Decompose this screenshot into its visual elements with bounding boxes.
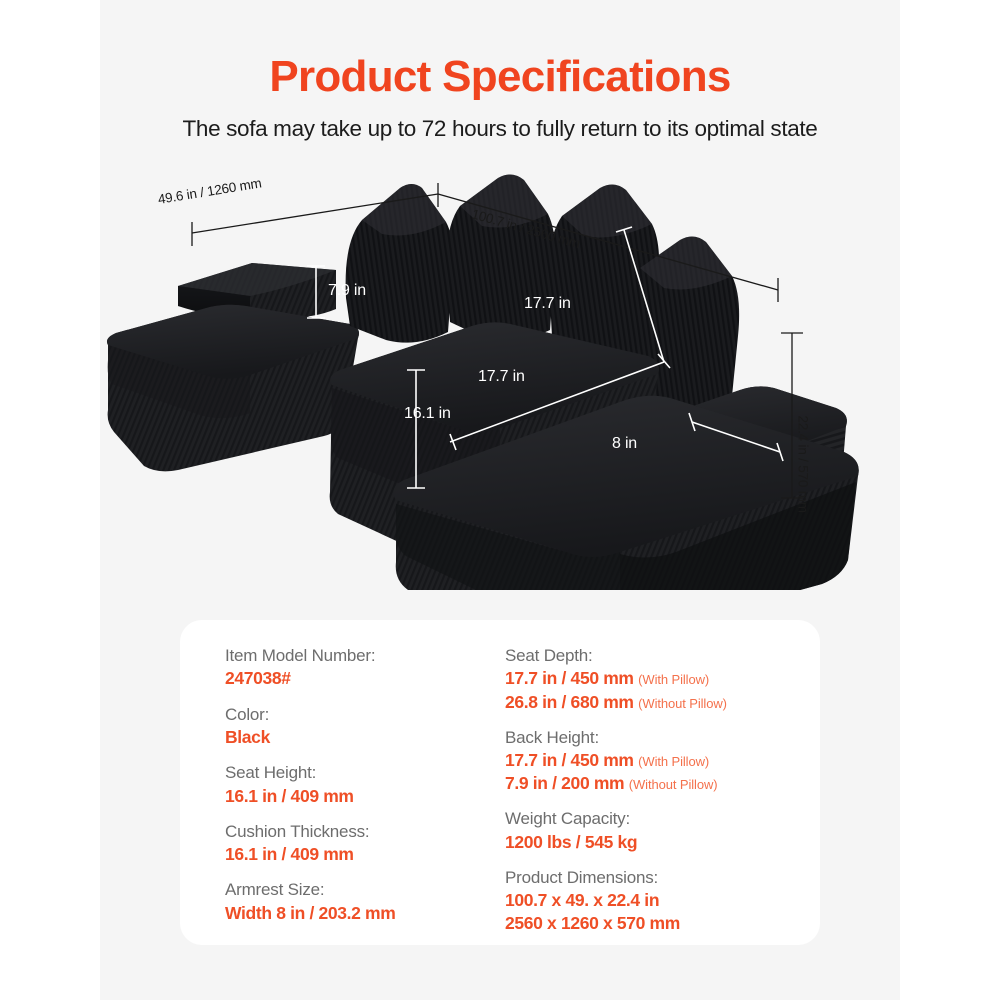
spec-value-line: 17.7 in / 450 mm (With Pillow): [505, 749, 820, 772]
spec-value-text: 26.8 in / 680 mm: [505, 692, 634, 712]
spec-value-note: (Without Pillow): [629, 777, 718, 792]
spec-value-text: 17.7 in / 450 mm: [505, 668, 634, 688]
dimension-label-seat-depth: 17.7 in: [478, 368, 525, 386]
spec-item-armrest-size: Armrest Size: Width 8 in / 203.2 mm: [225, 879, 465, 925]
spec-value: 16.1 in / 409 mm: [225, 785, 465, 808]
dimension-label-seat-height: 16.1 in: [404, 405, 451, 423]
infographic-canvas: Product Specifications The sofa may take…: [0, 0, 1000, 1000]
spec-value-note: (With Pillow): [638, 754, 709, 769]
spec-value-text: 100.7 x 49. x 22.4 in: [505, 890, 659, 910]
spec-value-note: (Without Pillow): [638, 696, 727, 711]
left-chaise-seat: [107, 305, 359, 472]
spec-value: Black: [225, 726, 465, 749]
spec-value-line: 26.8 in / 680 mm (Without Pillow): [505, 691, 820, 714]
spec-label: Weight Capacity:: [505, 808, 820, 830]
spec-label: Product Dimensions:: [505, 867, 820, 889]
sofa-dimension-diagram: 49.6 in / 1260 mm 100.7 in / 2560 mm 22.…: [100, 170, 900, 590]
dimension-label-armrest-width: 8 in: [612, 435, 637, 453]
dimension-label-back-height-without-pillow: 7.9 in: [328, 282, 366, 300]
spec-label: Back Height:: [505, 727, 820, 749]
spec-value: 247038#: [225, 667, 465, 690]
spec-label: Color:: [225, 704, 465, 726]
spec-value: Width 8 in / 203.2 mm: [225, 902, 465, 925]
spec-value-line: 2560 x 1260 x 570 mm: [505, 912, 820, 935]
spec-value-note: (With Pillow): [638, 672, 709, 687]
spec-item-product-dimensions: Product Dimensions: 100.7 x 49. x 22.4 i…: [505, 867, 820, 936]
spec-item-seat-depth: Seat Depth: 17.7 in / 450 mm (With Pillo…: [505, 645, 820, 714]
spec-value-line: 17.7 in / 450 mm (With Pillow): [505, 667, 820, 690]
spec-item-cushion-thickness: Cushion Thickness: 16.1 in / 409 mm: [225, 821, 465, 867]
specifications-card: Item Model Number: 247038# Color: Black …: [180, 620, 820, 945]
spec-value-text: 17.7 in / 450 mm: [505, 750, 634, 770]
spec-value: 16.1 in / 409 mm: [225, 843, 465, 866]
spec-item-seat-height: Seat Height: 16.1 in / 409 mm: [225, 762, 465, 808]
back-pillow-2: [447, 174, 556, 340]
spec-column-right: Seat Depth: 17.7 in / 450 mm (With Pillo…: [465, 620, 820, 945]
page-title: Product Specifications: [0, 52, 1000, 102]
spec-value-line: 7.9 in / 200 mm (Without Pillow): [505, 772, 820, 795]
spec-label: Seat Depth:: [505, 645, 820, 667]
spec-value-text: 2560 x 1260 x 570 mm: [505, 913, 680, 933]
spec-label: Seat Height:: [225, 762, 465, 784]
spec-item-weight-capacity: Weight Capacity: 1200 lbs / 545 kg: [505, 808, 820, 854]
spec-column-left: Item Model Number: 247038# Color: Black …: [180, 620, 465, 945]
spec-label: Cushion Thickness:: [225, 821, 465, 843]
spec-value-line: 100.7 x 49. x 22.4 in: [505, 889, 820, 912]
dimension-label-height-right: 22.4 in / 570 mm: [796, 416, 811, 513]
spec-value-line: 1200 lbs / 545 kg: [505, 831, 820, 854]
spec-item-model-number: Item Model Number: 247038#: [225, 645, 465, 691]
spec-value-text: 7.9 in / 200 mm: [505, 773, 624, 793]
spec-item-color: Color: Black: [225, 704, 465, 750]
dimension-label-back-height-with-pillow: 17.7 in: [524, 295, 571, 313]
spec-item-back-height: Back Height: 17.7 in / 450 mm (With Pill…: [505, 727, 820, 796]
spec-label: Armrest Size:: [225, 879, 465, 901]
spec-value-text: 1200 lbs / 545 kg: [505, 832, 637, 852]
page-subtitle: The sofa may take up to 72 hours to full…: [0, 116, 1000, 142]
spec-label: Item Model Number:: [225, 645, 465, 667]
back-pillow-1: [346, 184, 454, 343]
